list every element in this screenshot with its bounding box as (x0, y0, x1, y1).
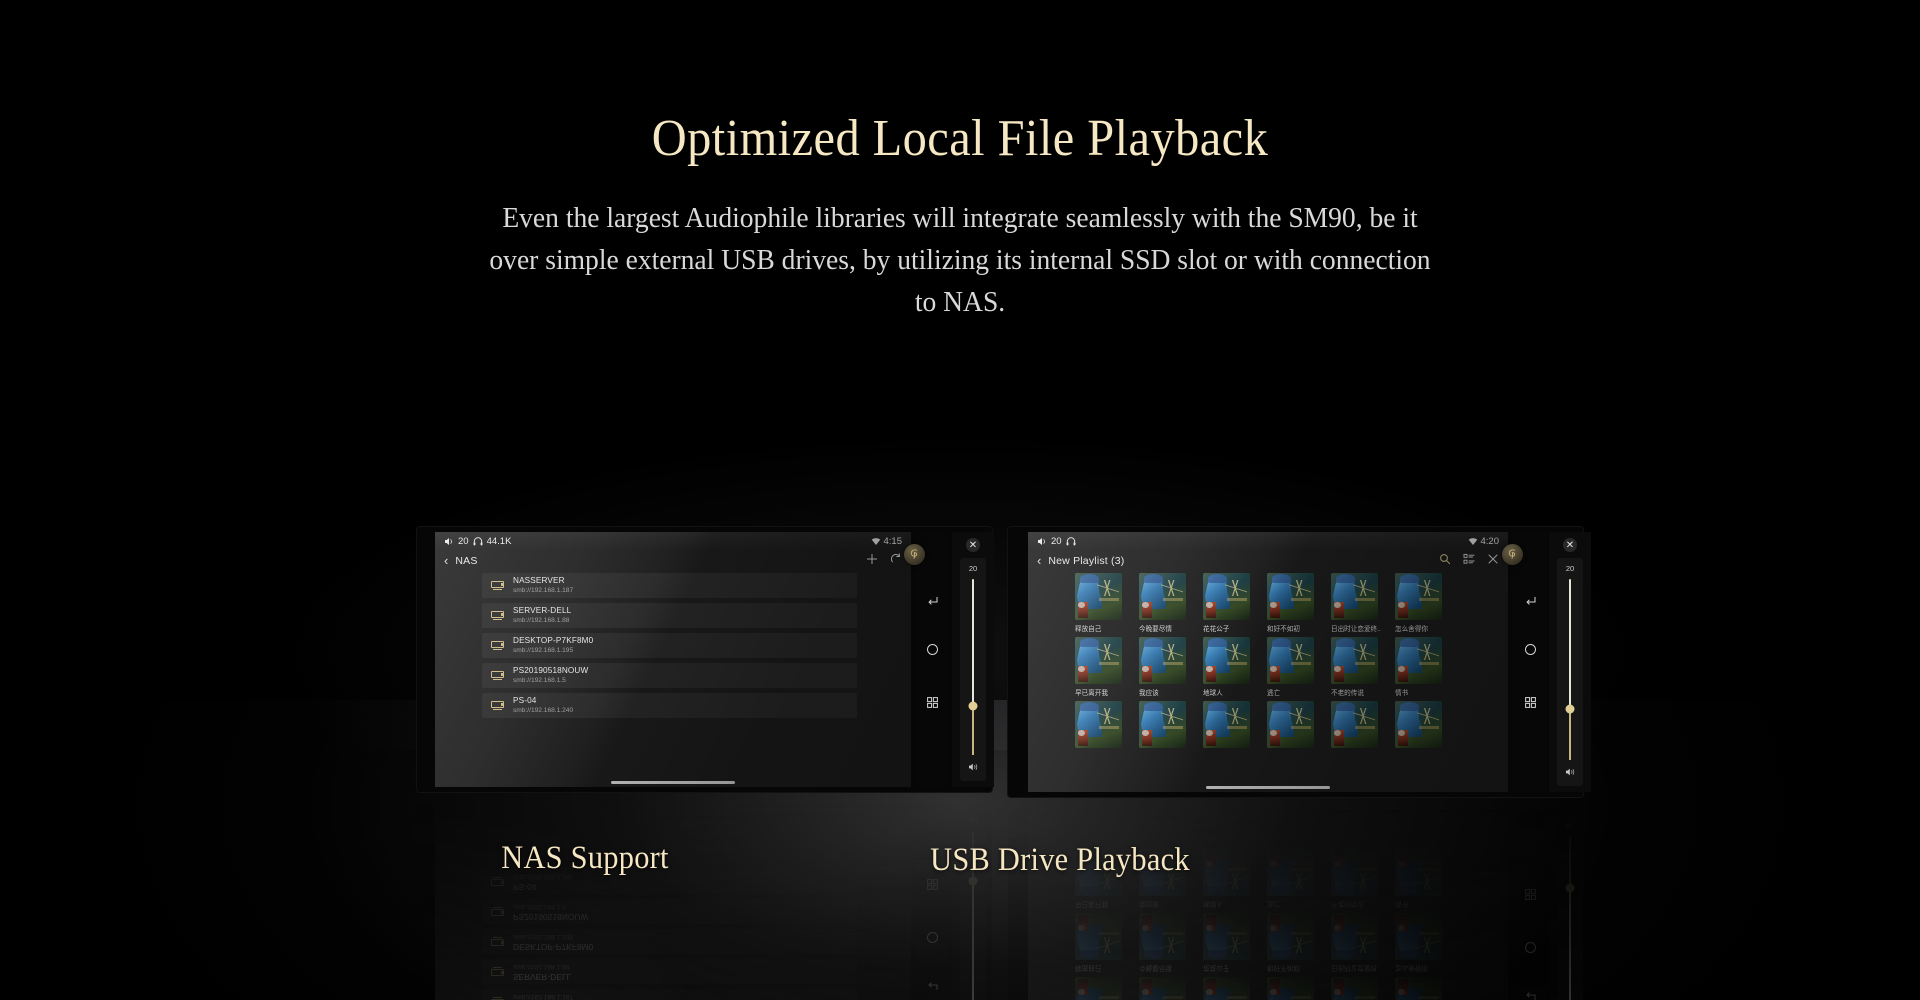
album-art (1075, 573, 1122, 620)
nas-server-list[interactable]: NASSERVER smb://192.168.1.187 SERVER-DEL… (482, 573, 857, 777)
album-art (1075, 977, 1122, 1000)
screen-glare (1028, 805, 1508, 1000)
volume-slider: 20 (960, 806, 986, 1000)
playlist-item: 早已离开我 (1075, 900, 1130, 960)
playlist-item: 和好不如初 (1267, 964, 1322, 1000)
server-url: smb://192.168.1.88 (513, 962, 571, 970)
track-title: 日出时让恋爱终.. (1331, 623, 1386, 633)
device-screen: 20 44.1K 4:15 ‹ NAS (435, 532, 911, 787)
album-art (1203, 637, 1250, 684)
volume-value: 20 (969, 564, 977, 573)
brand-logo-icon[interactable] (1502, 544, 1523, 565)
home-icon[interactable] (926, 643, 939, 656)
server-icon (491, 611, 504, 620)
track-title: 日出时让恋爱终.. (1331, 964, 1386, 974)
track-title: 怎么舍得你 (1395, 964, 1450, 974)
server-icon (491, 937, 504, 946)
playlist-item[interactable]: 释放自己 (1075, 573, 1130, 633)
close-icon[interactable] (1487, 553, 1499, 568)
album-art (1267, 573, 1314, 620)
page-root: Optimized Local File Playback Even the l… (0, 0, 1920, 1000)
caption-nas-support: NAS Support (415, 840, 755, 877)
server-icon (491, 701, 504, 710)
device-left-nas: 20 44.1K 4:15 ‹ NAS (417, 527, 992, 792)
playlist-item[interactable]: 日出时让恋爱终.. (1331, 573, 1386, 633)
device-screen: 20 44.1K 4:15 ‹ NAS (435, 800, 911, 1000)
volume-panel: ✕ 20 (952, 532, 994, 787)
volume-slider[interactable]: 20 (960, 558, 986, 781)
headphone-icon (473, 537, 483, 546)
server-name: DESKTOP-P7KF8M0 (513, 636, 593, 646)
back-icon[interactable] (1524, 594, 1537, 607)
album-art (1139, 701, 1186, 748)
playlist-item[interactable]: 早已离开我 (1075, 637, 1130, 697)
playlist-item: 日出时让恋爱终.. (1331, 964, 1386, 1000)
app-title: NAS (455, 555, 477, 567)
playlist-item (1267, 846, 1322, 896)
playlist-item: 花花公子 (1203, 964, 1258, 1000)
track-title: 逃亡 (1267, 687, 1322, 697)
album-art (1203, 977, 1250, 1000)
server-url: smb://192.168.1.195 (513, 647, 593, 655)
nav-strip (915, 800, 949, 1000)
album-art (1075, 913, 1122, 960)
home-icon (926, 931, 939, 944)
album-art (1267, 849, 1314, 896)
album-art (1395, 913, 1442, 960)
list-item: NASSERVER smb://192.168.1.187 (482, 989, 857, 1000)
playlist-item (1395, 846, 1450, 896)
refresh-icon[interactable] (890, 553, 902, 568)
speaker-wave-icon[interactable] (1565, 764, 1576, 786)
recents-icon (1524, 888, 1537, 901)
volume-fill (1569, 837, 1570, 888)
playlist-item: 逃亡 (1267, 900, 1322, 960)
playlist-item[interactable] (1139, 701, 1194, 751)
playlist-item: 情书 (1395, 900, 1450, 960)
recents-icon[interactable] (926, 696, 939, 709)
list-item: DESKTOP-P7KF8M0 smb://192.168.1.195 (482, 929, 857, 954)
device-bezel (417, 795, 992, 1000)
device-bezel (1008, 800, 1583, 1000)
playlist-item: 释放自己 (1075, 964, 1130, 1000)
album-art (1203, 573, 1250, 620)
volume-panel: ✕ 20 (1549, 805, 1591, 1000)
playlist-item[interactable] (1331, 701, 1386, 751)
server-url: smb://192.168.1.187 (513, 587, 573, 595)
track-title: 地球人 (1203, 687, 1258, 697)
album-art (1331, 637, 1378, 684)
volume-rail (1569, 579, 1570, 760)
track-title: 我应该 (1139, 687, 1194, 697)
headphone-icon (1066, 537, 1076, 546)
recents-icon[interactable] (1524, 696, 1537, 709)
close-icon[interactable]: ✕ (966, 538, 980, 552)
speaker-icon (444, 537, 454, 546)
album-art (1395, 637, 1442, 684)
volume-panel: ✕ 20 (1549, 532, 1591, 792)
playlist-item[interactable] (1267, 701, 1322, 751)
album-art (1203, 701, 1250, 748)
volume-rail (1569, 837, 1570, 1000)
server-icon (491, 671, 504, 680)
album-art (1139, 913, 1186, 960)
home-icon (1524, 941, 1537, 954)
home-indicator (611, 803, 735, 806)
device-left-reflection: 20 44.1K 4:15 ‹ NAS (417, 795, 992, 1000)
speaker-wave-icon (1565, 811, 1576, 833)
track-title: 不老的传说 (1331, 687, 1386, 697)
nav-strip (915, 532, 949, 787)
server-name: SERVER-DELL (513, 606, 571, 616)
volume-level: 20 (458, 536, 469, 547)
volume-knob (1565, 883, 1574, 892)
chevron-left-icon[interactable]: ‹ (1037, 554, 1041, 567)
playlist-item: 地球人 (1203, 900, 1258, 960)
album-art (1267, 913, 1314, 960)
app-title: New Playlist (3) (1048, 555, 1124, 567)
volume-fill (972, 706, 973, 755)
server-icon (491, 581, 504, 590)
playlist-item[interactable]: 怎么舍得你 (1395, 573, 1450, 633)
playlist-item[interactable] (1203, 701, 1258, 751)
server-url: smb://192.168.1.240 (513, 707, 573, 715)
server-icon (491, 907, 504, 916)
device-screen: 20 4:20 ‹ New Playlist (3) (1028, 805, 1508, 1000)
back-icon (1524, 990, 1537, 1000)
playlist-item[interactable]: 今晚要尽情 (1139, 573, 1194, 633)
server-url: smb://192.168.1.5 (513, 902, 588, 910)
album-art (1139, 637, 1186, 684)
playlist-item: 今晚要尽情 (1139, 964, 1194, 1000)
app-header: ‹ NAS (435, 550, 911, 571)
home-indicator[interactable] (1206, 786, 1330, 789)
track-title: 地球人 (1203, 900, 1258, 910)
track-title: 怎么舍得你 (1395, 623, 1450, 633)
track-title: 释放自己 (1075, 623, 1130, 633)
brand-logo-icon[interactable] (904, 544, 925, 565)
speaker-wave-icon (968, 806, 979, 828)
list-item[interactable]: NASSERVER smb://192.168.1.187 (482, 573, 857, 598)
close-icon[interactable]: ✕ (1563, 538, 1577, 552)
server-name: PS-04 (513, 881, 573, 891)
wifi-icon (871, 537, 881, 546)
track-title: 今晚要尽情 (1139, 623, 1194, 633)
track-title: 不老的传说 (1331, 900, 1386, 910)
album-art (1267, 701, 1314, 748)
album-art (1139, 573, 1186, 620)
device-screen: 20 4:20 ‹ New Playlist (3) (1028, 532, 1508, 792)
playlist-item[interactable]: 逃亡 (1267, 637, 1322, 697)
volume-slider[interactable]: 20 (1557, 558, 1583, 786)
wifi-icon (1468, 537, 1478, 546)
track-title: 我应该 (1139, 900, 1194, 910)
server-icon (491, 877, 504, 886)
album-art (1331, 913, 1378, 960)
album-art (1139, 977, 1186, 1000)
add-icon[interactable] (866, 553, 878, 568)
clock-time: 4:15 (884, 536, 903, 547)
track-title: 早已离开我 (1075, 687, 1130, 697)
volume-panel: ✕ 20 (952, 800, 994, 1000)
home-icon[interactable] (1524, 643, 1537, 656)
back-icon (926, 980, 939, 993)
server-url: smb://192.168.1.5 (513, 677, 588, 685)
track-title: 今晚要尽情 (1139, 964, 1194, 974)
album-art (1331, 977, 1378, 1000)
playlist-item (1331, 846, 1386, 896)
device-right-reflection: 20 4:20 ‹ New Playlist (3) (1008, 800, 1583, 1000)
track-title: 花花公子 (1203, 964, 1258, 974)
album-art (1331, 701, 1378, 748)
back-icon[interactable] (926, 594, 939, 607)
list-item[interactable]: DESKTOP-P7KF8M0 smb://192.168.1.195 (482, 633, 857, 658)
sample-rate: 44.1K (487, 536, 512, 547)
server-name: SERVER-DELL (513, 971, 571, 981)
track-title: 情书 (1395, 687, 1450, 697)
album-art (1075, 701, 1122, 748)
list-item: SERVER-DELL smb://192.168.1.88 (482, 959, 857, 984)
album-art (1331, 849, 1378, 896)
volume-value: 20 (1566, 564, 1574, 573)
album-art (1395, 701, 1442, 748)
volume-knob[interactable] (968, 701, 977, 710)
album-art (1267, 637, 1314, 684)
volume-level: 20 (1051, 536, 1062, 547)
track-title: 和好不如初 (1267, 964, 1322, 974)
speaker-wave-icon[interactable] (968, 759, 979, 781)
list-item[interactable]: SERVER-DELL smb://192.168.1.88 (482, 603, 857, 628)
playlist-item: 不老的传说 (1331, 900, 1386, 960)
album-art (1267, 977, 1314, 1000)
album-art (1075, 637, 1122, 684)
list-item[interactable]: PS20190518NOUW smb://192.168.1.5 (482, 663, 857, 688)
home-indicator (1206, 808, 1330, 811)
track-title: 情书 (1395, 900, 1450, 910)
server-url: smb://192.168.1.88 (513, 617, 571, 625)
track-title: 逃亡 (1267, 900, 1322, 910)
home-indicator[interactable] (611, 781, 735, 784)
server-name: PS20190518NOUW (513, 666, 588, 676)
volume-rail (972, 579, 973, 755)
album-art (1203, 913, 1250, 960)
list-item[interactable]: PS-04 smb://192.168.1.240 (482, 693, 857, 718)
playlist-grid[interactable]: 释放自己今晚要尽情花花公子和好不如初日出时让恋爱终..怎么舍得你早已离开我我应该… (1075, 573, 1453, 784)
server-icon (491, 641, 504, 650)
list-view-icon[interactable] (1463, 553, 1475, 568)
playlist-item[interactable]: 情书 (1395, 637, 1450, 697)
server-name: PS20190518NOUW (513, 911, 588, 921)
caption-usb-playback: USB Drive Playback (885, 842, 1235, 879)
volume-slider: 20 (1557, 811, 1583, 1000)
server-url: smb://192.168.1.187 (513, 992, 573, 1000)
status-bar: 20 4:20 (1028, 532, 1508, 550)
playlist-item[interactable]: 我应该 (1139, 637, 1194, 697)
server-icon (491, 967, 504, 976)
track-title: 早已离开我 (1075, 900, 1130, 910)
search-icon[interactable] (1439, 553, 1451, 568)
nav-strip (1513, 805, 1547, 1000)
recents-icon (926, 878, 939, 891)
playlist-item: 我应该 (1139, 900, 1194, 960)
playlist-item[interactable] (1075, 701, 1130, 751)
playlist-item[interactable]: 地球人 (1203, 637, 1258, 697)
playlist-item[interactable] (1395, 701, 1450, 751)
app-header: ‹ New Playlist (3) (1028, 550, 1508, 571)
track-title: 释放自己 (1075, 964, 1130, 974)
nas-server-list: NASSERVER smb://192.168.1.187 SERVER-DEL… (482, 810, 857, 1000)
track-title: 和好不如初 (1267, 623, 1322, 633)
album-art (1331, 573, 1378, 620)
nav-strip (1513, 532, 1547, 792)
playlist-item: 怎么舍得你 (1395, 964, 1450, 1000)
volume-fill (1569, 709, 1570, 760)
speaker-icon (1037, 537, 1047, 546)
device-right-usb: 20 4:20 ‹ New Playlist (3) (1008, 800, 1583, 1000)
volume-knob[interactable] (1565, 705, 1574, 714)
album-art (1395, 573, 1442, 620)
status-bar: 20 44.1K 4:15 (435, 532, 911, 550)
server-url: smb://192.168.1.195 (513, 932, 593, 940)
playlist-item[interactable]: 不老的传说 (1331, 637, 1386, 697)
server-name: PS-04 (513, 696, 573, 706)
album-art (1395, 977, 1442, 1000)
server-name: NASSERVER (513, 576, 573, 586)
album-art (1395, 849, 1442, 896)
device-right-usb: 20 4:20 ‹ New Playlist (3) (1008, 527, 1583, 797)
screen-glare (435, 800, 911, 1000)
playlist-item[interactable]: 花花公子 (1203, 573, 1258, 633)
device-left-nas: 20 44.1K 4:15 ‹ NAS (417, 795, 992, 1000)
list-item: PS20190518NOUW smb://192.168.1.5 (482, 899, 857, 924)
chevron-left-icon[interactable]: ‹ (444, 554, 448, 567)
playlist-item[interactable]: 和好不如初 (1267, 573, 1322, 633)
server-name: DESKTOP-P7KF8M0 (513, 941, 593, 951)
clock-time: 4:20 (1481, 536, 1500, 547)
track-title: 花花公子 (1203, 623, 1258, 633)
